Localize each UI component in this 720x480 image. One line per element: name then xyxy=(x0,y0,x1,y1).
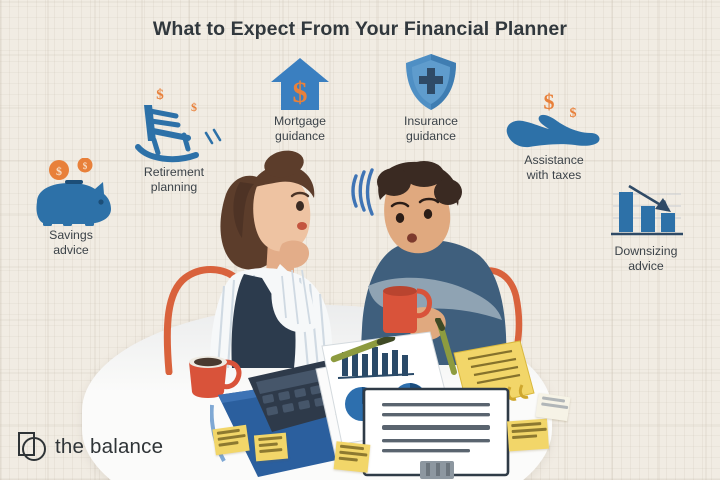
icon-label-assistance-with-taxes: Assistance with taxes xyxy=(494,153,614,183)
pen-left xyxy=(330,337,396,367)
square-circle-logo-icon xyxy=(18,432,46,462)
svg-text:$: $ xyxy=(56,164,62,178)
clipboard-document xyxy=(358,385,518,480)
rocking-chair-icon: $ $ xyxy=(122,85,226,163)
svg-text:$: $ xyxy=(570,106,577,121)
house-dollar-icon: $ xyxy=(269,56,331,112)
icon-block-assistance-with-taxes: $ $ Assistance with taxes xyxy=(494,85,614,183)
shield-cross-icon xyxy=(403,52,459,112)
declining-bar-chart-icon xyxy=(603,180,689,242)
svg-text:$: $ xyxy=(156,87,164,103)
hand-dollar-icon: $ $ xyxy=(503,85,605,151)
icon-label-mortgage-guidance: Mortgage guidance xyxy=(243,114,357,144)
svg-text:$: $ xyxy=(544,89,555,114)
svg-text:$: $ xyxy=(191,100,197,114)
svg-text:$: $ xyxy=(293,76,308,109)
sticky-note-2 xyxy=(254,433,288,462)
svg-text:$: $ xyxy=(83,161,88,171)
icon-block-savings-advice: $ $ Savings advice xyxy=(16,158,126,258)
sticky-note-4 xyxy=(507,419,549,452)
icon-block-mortgage-guidance: $ Mortgage guidance xyxy=(243,56,357,144)
icon-block-retirement-planning: $ $ Retirement planning xyxy=(115,85,233,195)
page-title: What to Expect From Your Financial Plann… xyxy=(0,18,720,41)
icon-block-downsizing-advice: Downsizing advice xyxy=(588,180,704,274)
icon-label-savings-advice: Savings advice xyxy=(16,228,126,258)
sticky-note-5 xyxy=(535,393,570,421)
icon-block-insurance-guidance: Insurance guidance xyxy=(373,52,489,144)
icon-label-downsizing-advice: Downsizing advice xyxy=(588,244,704,274)
sticky-note-3 xyxy=(334,441,371,472)
coffee-mug-right xyxy=(381,281,433,337)
sticky-note-1 xyxy=(212,425,249,455)
piggy-bank-icon: $ $ xyxy=(25,158,117,226)
infographic-canvas: What to Expect From Your Financial Plann… xyxy=(0,0,720,480)
brand-logo[interactable]: the balance xyxy=(18,432,163,462)
logo-text: the balance xyxy=(55,435,163,459)
icon-label-retirement-planning: Retirement planning xyxy=(115,165,233,195)
icon-label-insurance-guidance: Insurance guidance xyxy=(373,114,489,144)
